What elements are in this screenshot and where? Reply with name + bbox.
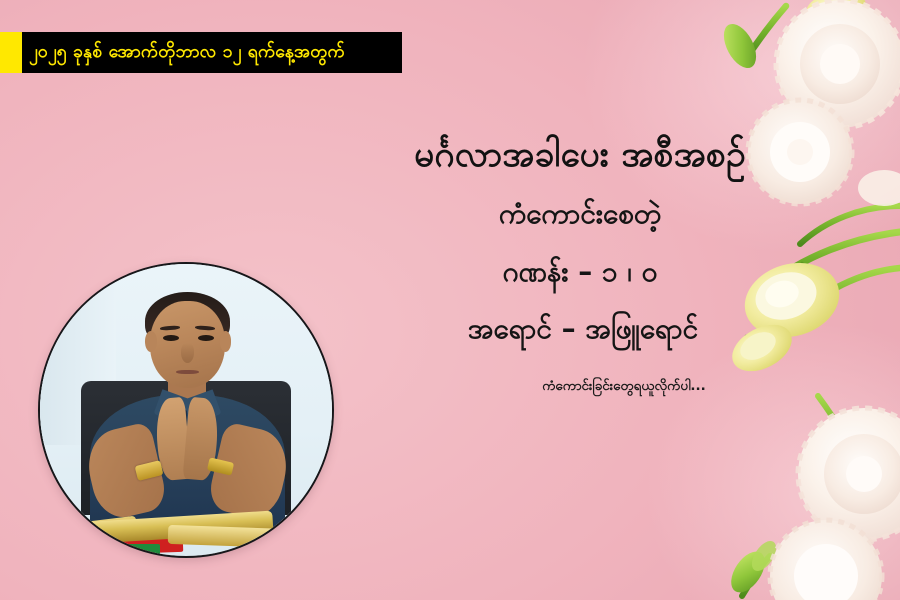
photo-eye-right	[198, 335, 214, 341]
ribbon-accent-block	[0, 32, 22, 73]
date-ribbon: ၂၀၂၅ ခုနှစ် အောက်တိုဘာလ ၁၂ ရက်နေ့အတွက်	[0, 32, 402, 73]
photo-nose	[181, 343, 194, 363]
photo-green-cloth	[122, 544, 160, 554]
photo-ear-left	[145, 331, 157, 351]
ribbon-body: ၂၀၂၅ ခုနှစ် အောက်တိုဘာလ ၁၂ ရက်နေ့အတွက်	[22, 32, 402, 73]
subtitle-lucky: ကံကောင်းစေတဲ့	[300, 192, 860, 235]
photo-gold-object-3	[168, 525, 291, 548]
lucky-color-line: အရောင် – အဖြူရောင်	[306, 307, 860, 350]
footnote-text: ကံကောင်းခြင်းတွေရယူလိုက်ပါ...	[300, 377, 860, 397]
portrait-photo	[40, 264, 332, 556]
ribbon-date-text: ၂၀၂၅ ခုနှစ် အောက်တိုဘာလ ၁၂ ရက်နေ့အတွက်	[29, 44, 345, 62]
photo-ear-right	[220, 331, 232, 351]
content-text-block: မင်္ဂလာအခါပေး အစီအစဉ် ကံကောင်းစေတဲ့ ဂဏန်…	[300, 132, 860, 397]
photo-eye-left	[163, 335, 179, 341]
lucky-number-line: ဂဏန်း – ၁ ၊ ၀	[300, 250, 860, 293]
astrologer-portrait	[38, 262, 334, 558]
page-title: မင်္ဂလာအခါပေး အစီအစဉ်	[300, 132, 860, 178]
